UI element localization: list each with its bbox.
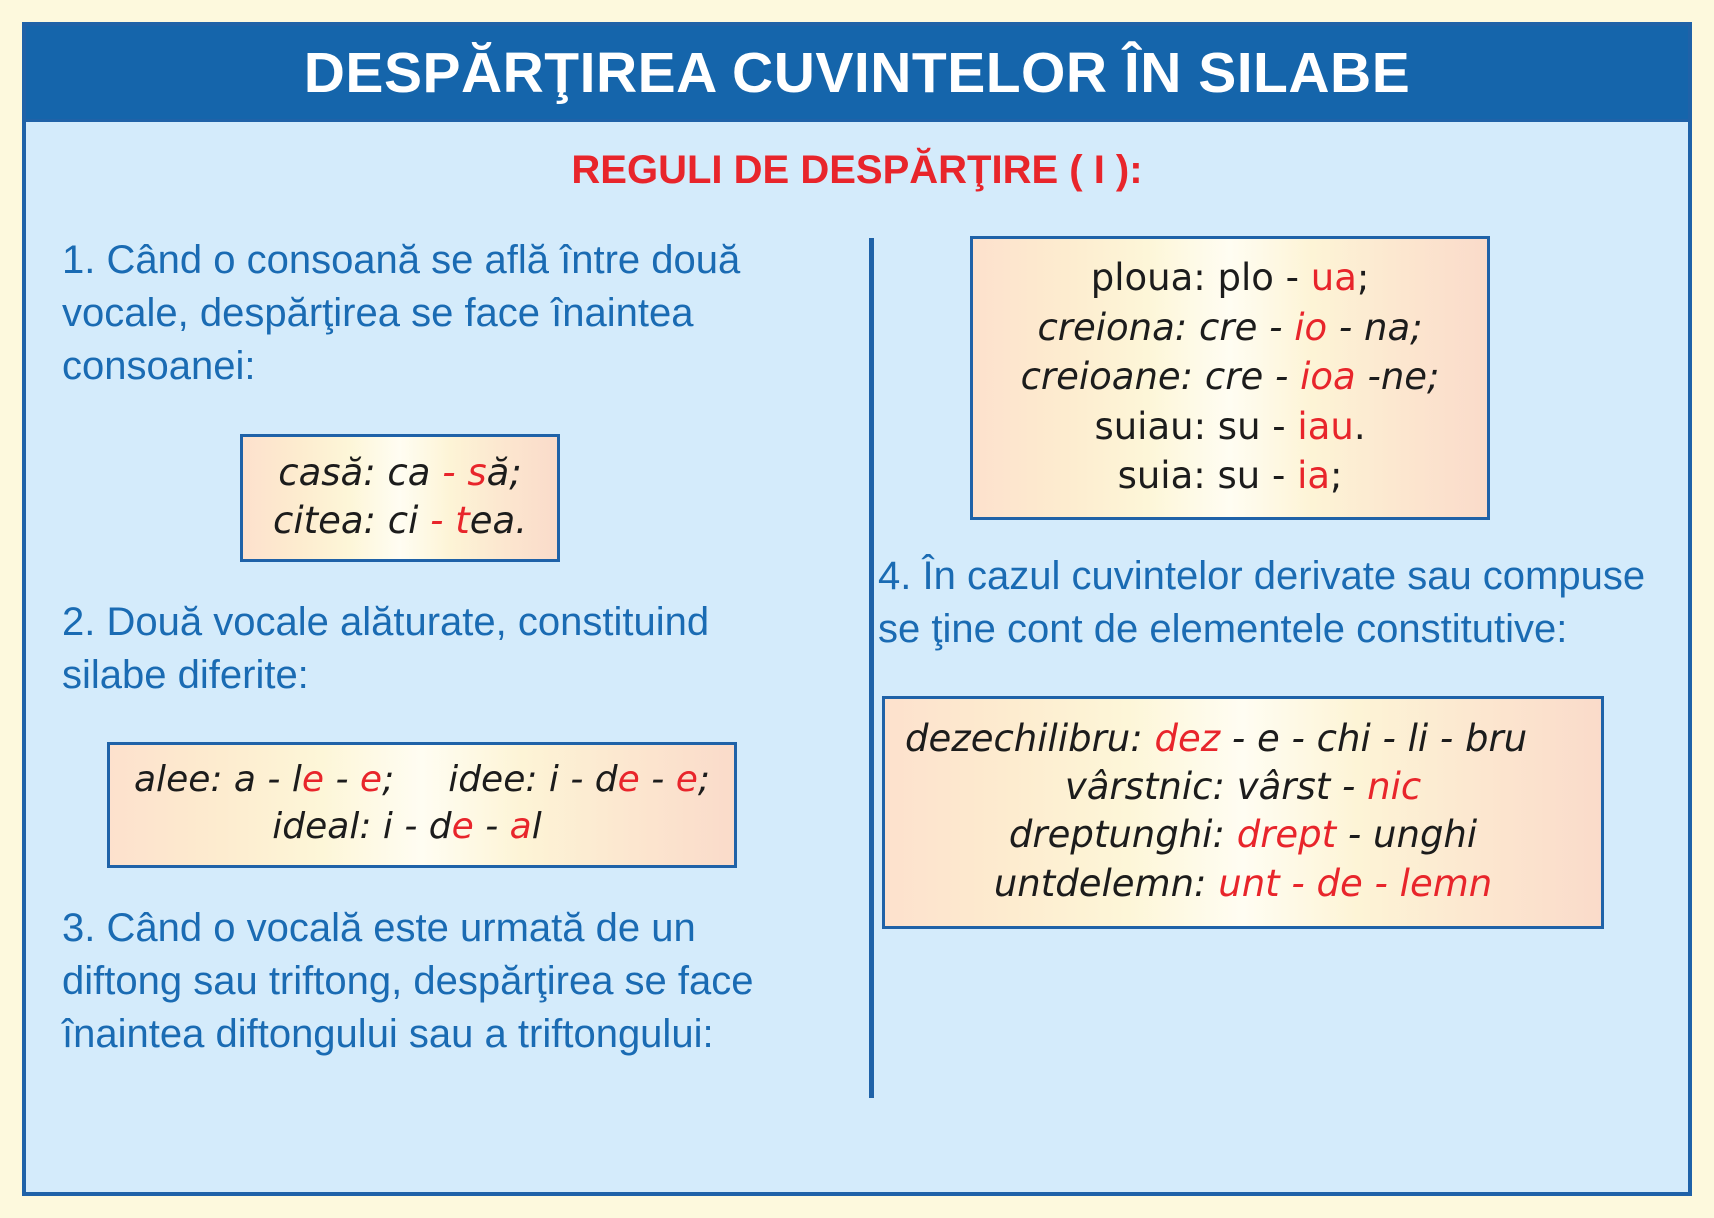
- example-highlight: e: [618, 759, 640, 800]
- example-word: untdelemn:: [994, 862, 1218, 905]
- example-word: dreptunghi:: [1009, 813, 1237, 856]
- example-highlight: nic: [1367, 765, 1421, 808]
- example-highlight: e: [302, 759, 324, 800]
- rule-2-text: 2. Două vocale alăturate, constituind si…: [62, 596, 810, 702]
- example-line-suiau: suiau: su - iau.: [989, 402, 1471, 452]
- example-line-dreptunghi: dreptunghi: drept - unghi: [899, 811, 1587, 859]
- example-word: ideal: i - d: [272, 806, 451, 847]
- example-tail: -ne;: [1356, 355, 1440, 398]
- example-highlight: a: [510, 806, 532, 847]
- content-columns: 1. Când o consoană se află între două vo…: [26, 206, 1688, 1186]
- example-row: alee: a - le - e; idee: i - de - e;: [128, 757, 716, 804]
- example-line-alee: alee: a - le - e;: [134, 757, 394, 804]
- example-word: alee: a - l: [134, 759, 302, 800]
- rule-3-text: 3. Când o vocală este urmată de un difto…: [62, 902, 810, 1062]
- example-line-creioane: creioane: cre - ioa -ne;: [989, 352, 1471, 402]
- example-tail: ;: [1357, 256, 1369, 299]
- example-sep: -: [640, 759, 676, 800]
- example-line-suia: suia: su - ia;: [989, 451, 1471, 501]
- example-line-creiona: creiona: cre - io - na;: [989, 303, 1471, 353]
- example-line-ideal: ideal: i - de - al: [272, 806, 542, 847]
- example-tail: ;: [382, 759, 394, 800]
- example-tail: - na;: [1327, 306, 1422, 349]
- example-highlight: dez: [1154, 717, 1220, 760]
- example-word: idee: i - d: [448, 759, 617, 800]
- rule-4-text: 4. În cazul cuvintelor derivate sau comp…: [878, 550, 1648, 656]
- example-line-varstnic: vârstnic: vârst - nic: [899, 763, 1587, 811]
- example-box-rule-1: casă: ca - să; citea: ci - tea.: [240, 434, 560, 562]
- example-word: creioane: cre -: [1021, 355, 1301, 398]
- poster-root: DESPĂRŢIREA CUVINTELOR ÎN SILABE REGULI …: [22, 22, 1692, 1196]
- section-subtitle: REGULI DE DESPĂRŢIRE ( I ):: [26, 148, 1688, 193]
- example-highlight: iau: [1297, 405, 1353, 448]
- example-highlight: ua: [1311, 256, 1357, 299]
- example-tail: .: [1354, 405, 1366, 448]
- example-line-untdelemn: untdelemn: unt - de - lemn: [899, 860, 1587, 908]
- example-word: ploua: plo -: [1091, 256, 1311, 299]
- example-box-rule-3: ploua: plo - ua; creiona: cre - io - na;…: [970, 236, 1490, 520]
- example-tail: l: [532, 806, 542, 847]
- example-word: vârstnic: vârst -: [1065, 765, 1367, 808]
- example-highlight: e: [452, 806, 474, 847]
- page-title: DESPĂRŢIREA CUVINTELOR ÎN SILABE: [304, 40, 1410, 106]
- example-tail: ă;: [487, 451, 522, 494]
- example-word: creiona: cre -: [1037, 306, 1294, 349]
- example-highlight: e: [676, 759, 698, 800]
- right-column: ploua: plo - ua; creiona: cre - io - na;…: [844, 206, 1688, 1186]
- example-sep: -: [324, 759, 360, 800]
- example-box-rule-2: alee: a - le - e; idee: i - de - e; idea…: [107, 742, 737, 868]
- example-highlight: io: [1294, 306, 1327, 349]
- example-line-ploua: ploua: plo - ua;: [989, 253, 1471, 303]
- example-line-casa: casă: ca - să;: [261, 449, 539, 497]
- example-highlight: e: [360, 759, 382, 800]
- example-highlight: unt - de - lemn: [1218, 862, 1492, 905]
- example-sep: -: [474, 806, 510, 847]
- example-highlight: drept: [1237, 813, 1336, 856]
- example-tail: - e - chi - li - bru: [1220, 717, 1527, 760]
- rule-1-text: 1. Când o consoană se află între două vo…: [62, 234, 810, 394]
- example-line-citea: citea: ci - tea.: [261, 497, 539, 545]
- example-line-dezechilibru: dezechilibru: dez - e - chi - li - bru: [899, 715, 1587, 763]
- example-highlight: - t: [430, 499, 470, 542]
- example-tail: ;: [1330, 454, 1342, 497]
- left-column: 1. Când o consoană se află între două vo…: [26, 206, 844, 1186]
- example-box-rule-4: dezechilibru: dez - e - chi - li - bru v…: [882, 696, 1604, 928]
- example-line-idee: idee: i - de - e;: [448, 757, 710, 804]
- example-tail: - unghi: [1336, 813, 1477, 856]
- example-highlight: - s: [442, 451, 486, 494]
- example-word: casă: ca: [278, 451, 442, 494]
- example-word: dezechilibru:: [905, 717, 1154, 760]
- example-highlight: ioa: [1300, 355, 1356, 398]
- title-bar: DESPĂRŢIREA CUVINTELOR ÎN SILABE: [26, 26, 1688, 122]
- example-word: suia: su -: [1118, 454, 1298, 497]
- example-word: suiau: su -: [1094, 405, 1297, 448]
- example-word: citea: ci: [273, 499, 430, 542]
- example-row: ideal: i - de - al: [128, 804, 716, 851]
- example-highlight: ia: [1297, 454, 1330, 497]
- example-tail: ;: [698, 759, 710, 800]
- example-tail: ea.: [470, 499, 527, 542]
